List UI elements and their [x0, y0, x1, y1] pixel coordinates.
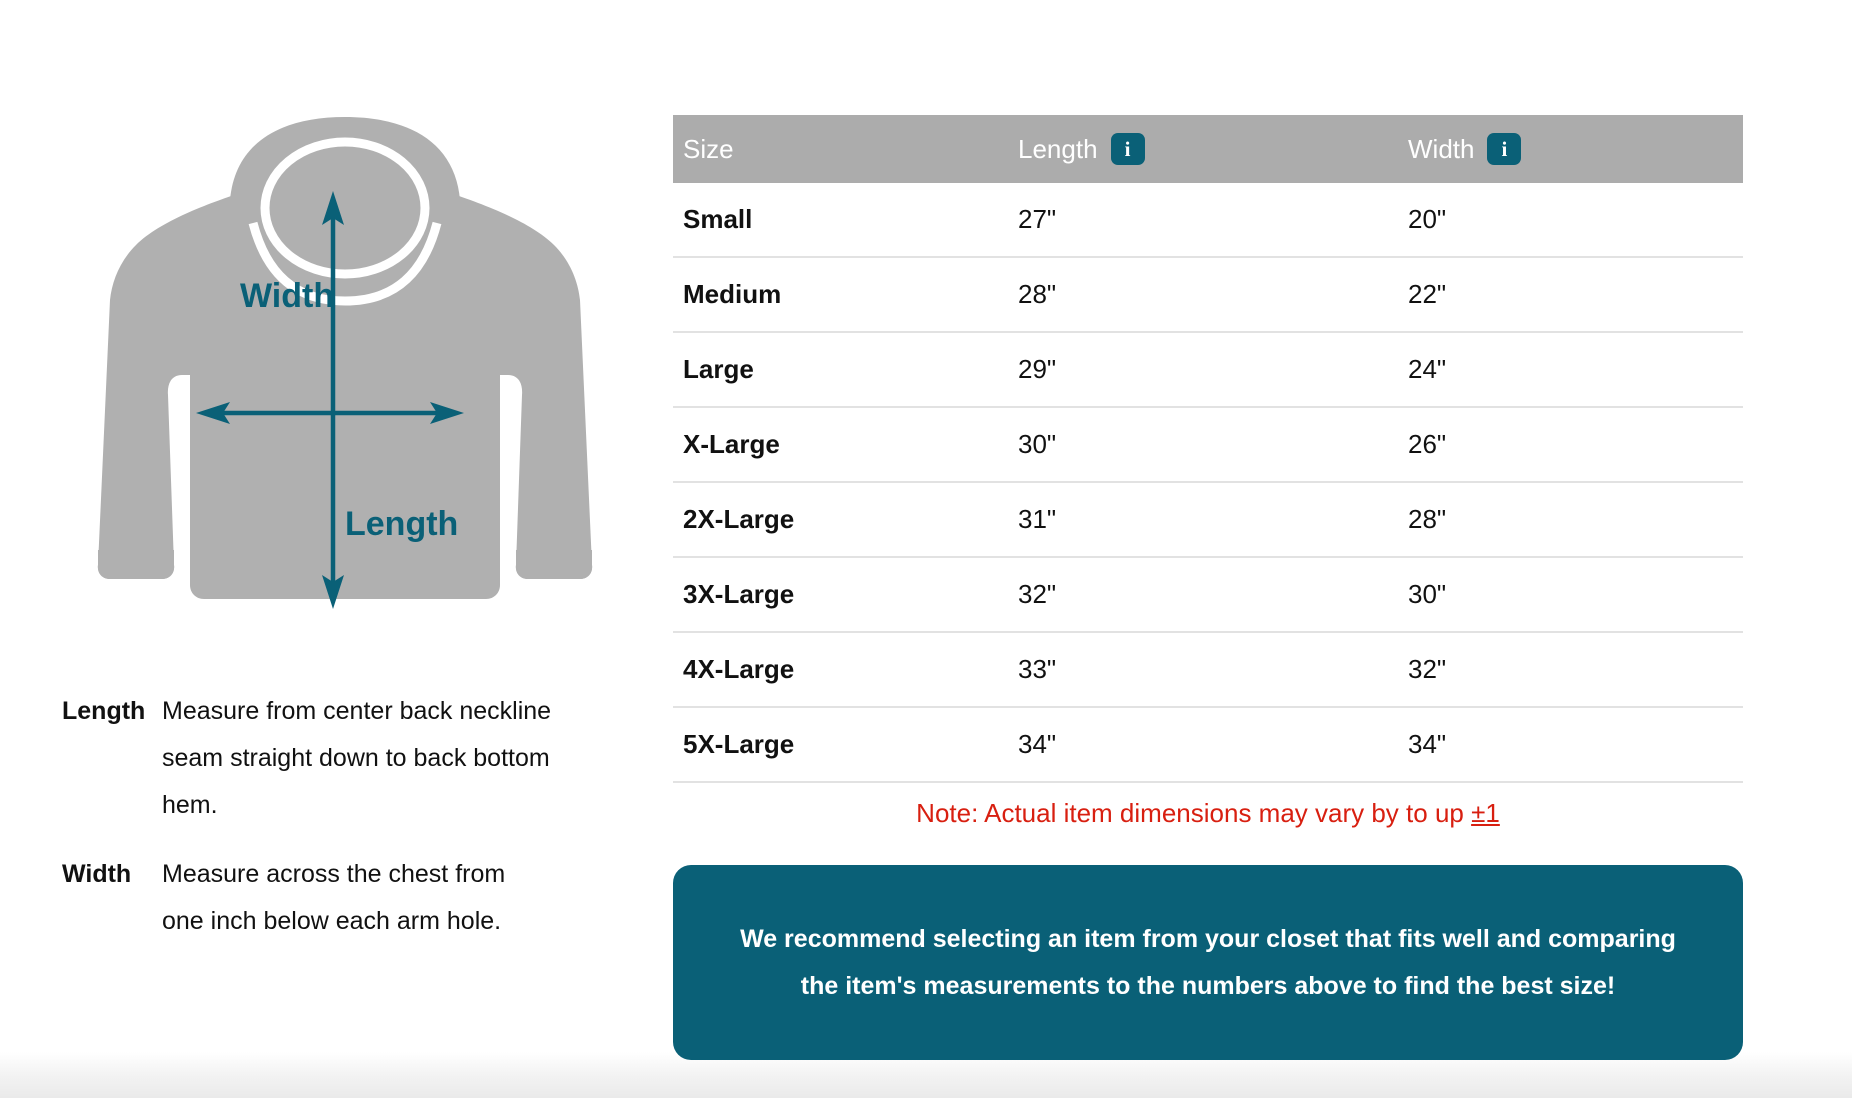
cell-width: 24"	[1398, 332, 1743, 407]
cell-length: 32"	[1008, 557, 1398, 632]
cell-length: 29"	[1008, 332, 1398, 407]
table-row: 3X-Large 32" 30"	[673, 557, 1743, 632]
cell-width: 32"	[1398, 632, 1743, 707]
cell-size: X-Large	[673, 407, 1008, 482]
cell-size: 5X-Large	[673, 707, 1008, 782]
cell-size: Medium	[673, 257, 1008, 332]
cell-width: 26"	[1398, 407, 1743, 482]
length-info-icon[interactable]: i	[1111, 133, 1145, 165]
recommendation-callout: We recommend selecting an item from your…	[673, 865, 1743, 1060]
cell-length: 28"	[1008, 257, 1398, 332]
table-row: Medium 28" 22"	[673, 257, 1743, 332]
size-chart-table: Size Length i Width i	[673, 115, 1743, 783]
column-header-length-label: Length	[1018, 134, 1098, 165]
table-header: Size Length i Width i	[673, 115, 1743, 183]
table-row: Small 27" 20"	[673, 183, 1743, 257]
column-header-width-label: Width	[1408, 134, 1474, 165]
cell-width: 20"	[1398, 183, 1743, 257]
legend-definition-length: Measure from center back neckline seam s…	[162, 688, 552, 829]
width-label: Width	[240, 277, 334, 315]
note-text: Note: Actual item dimensions may vary by…	[916, 798, 1471, 828]
recommendation-text: We recommend selecting an item from your…	[729, 916, 1687, 1010]
column-header-size: Size	[673, 115, 1008, 183]
cell-length: 31"	[1008, 482, 1398, 557]
cell-width: 28"	[1398, 482, 1743, 557]
cell-width: 34"	[1398, 707, 1743, 782]
hoodie-diagram: Width Length	[90, 95, 600, 655]
cell-width: 22"	[1398, 257, 1743, 332]
table-body: Small 27" 20" Medium 28" 22" Large 29" 2…	[673, 183, 1743, 782]
table-row: Large 29" 24"	[673, 332, 1743, 407]
legend-definition-width: Measure across the chest from one inch b…	[162, 851, 552, 945]
cell-width: 30"	[1398, 557, 1743, 632]
dimension-variance-note: Note: Actual item dimensions may vary by…	[673, 798, 1743, 829]
cell-size: 2X-Large	[673, 482, 1008, 557]
legend-item-width: Width Measure across the chest from one …	[62, 851, 622, 945]
length-label: Length	[345, 505, 458, 543]
legend-term-length: Length	[62, 688, 162, 735]
column-header-size-label: Size	[683, 134, 734, 165]
column-header-length: Length i	[1008, 115, 1398, 183]
cell-size: Small	[673, 183, 1008, 257]
column-header-width: Width i	[1398, 115, 1743, 183]
note-tolerance: ±1	[1471, 798, 1500, 828]
cell-length: 30"	[1008, 407, 1398, 482]
table-row: 2X-Large 31" 28"	[673, 482, 1743, 557]
cell-length: 33"	[1008, 632, 1398, 707]
width-info-icon[interactable]: i	[1487, 133, 1521, 165]
measurement-diagram-panel: Width Length Length Measure from center …	[0, 0, 660, 1098]
measurement-legend: Length Measure from center back neckline…	[62, 688, 622, 967]
table-header-row: Size Length i Width i	[673, 115, 1743, 183]
table-row: 4X-Large 33" 32"	[673, 632, 1743, 707]
legend-item-length: Length Measure from center back neckline…	[62, 688, 622, 829]
legend-term-width: Width	[62, 851, 162, 898]
table-row: 5X-Large 34" 34"	[673, 707, 1743, 782]
cell-size: Large	[673, 332, 1008, 407]
cell-size: 4X-Large	[673, 632, 1008, 707]
cell-size: 3X-Large	[673, 557, 1008, 632]
cell-length: 34"	[1008, 707, 1398, 782]
size-chart-table-wrapper: Size Length i Width i	[673, 115, 1743, 783]
table-row: X-Large 30" 26"	[673, 407, 1743, 482]
cell-length: 27"	[1008, 183, 1398, 257]
